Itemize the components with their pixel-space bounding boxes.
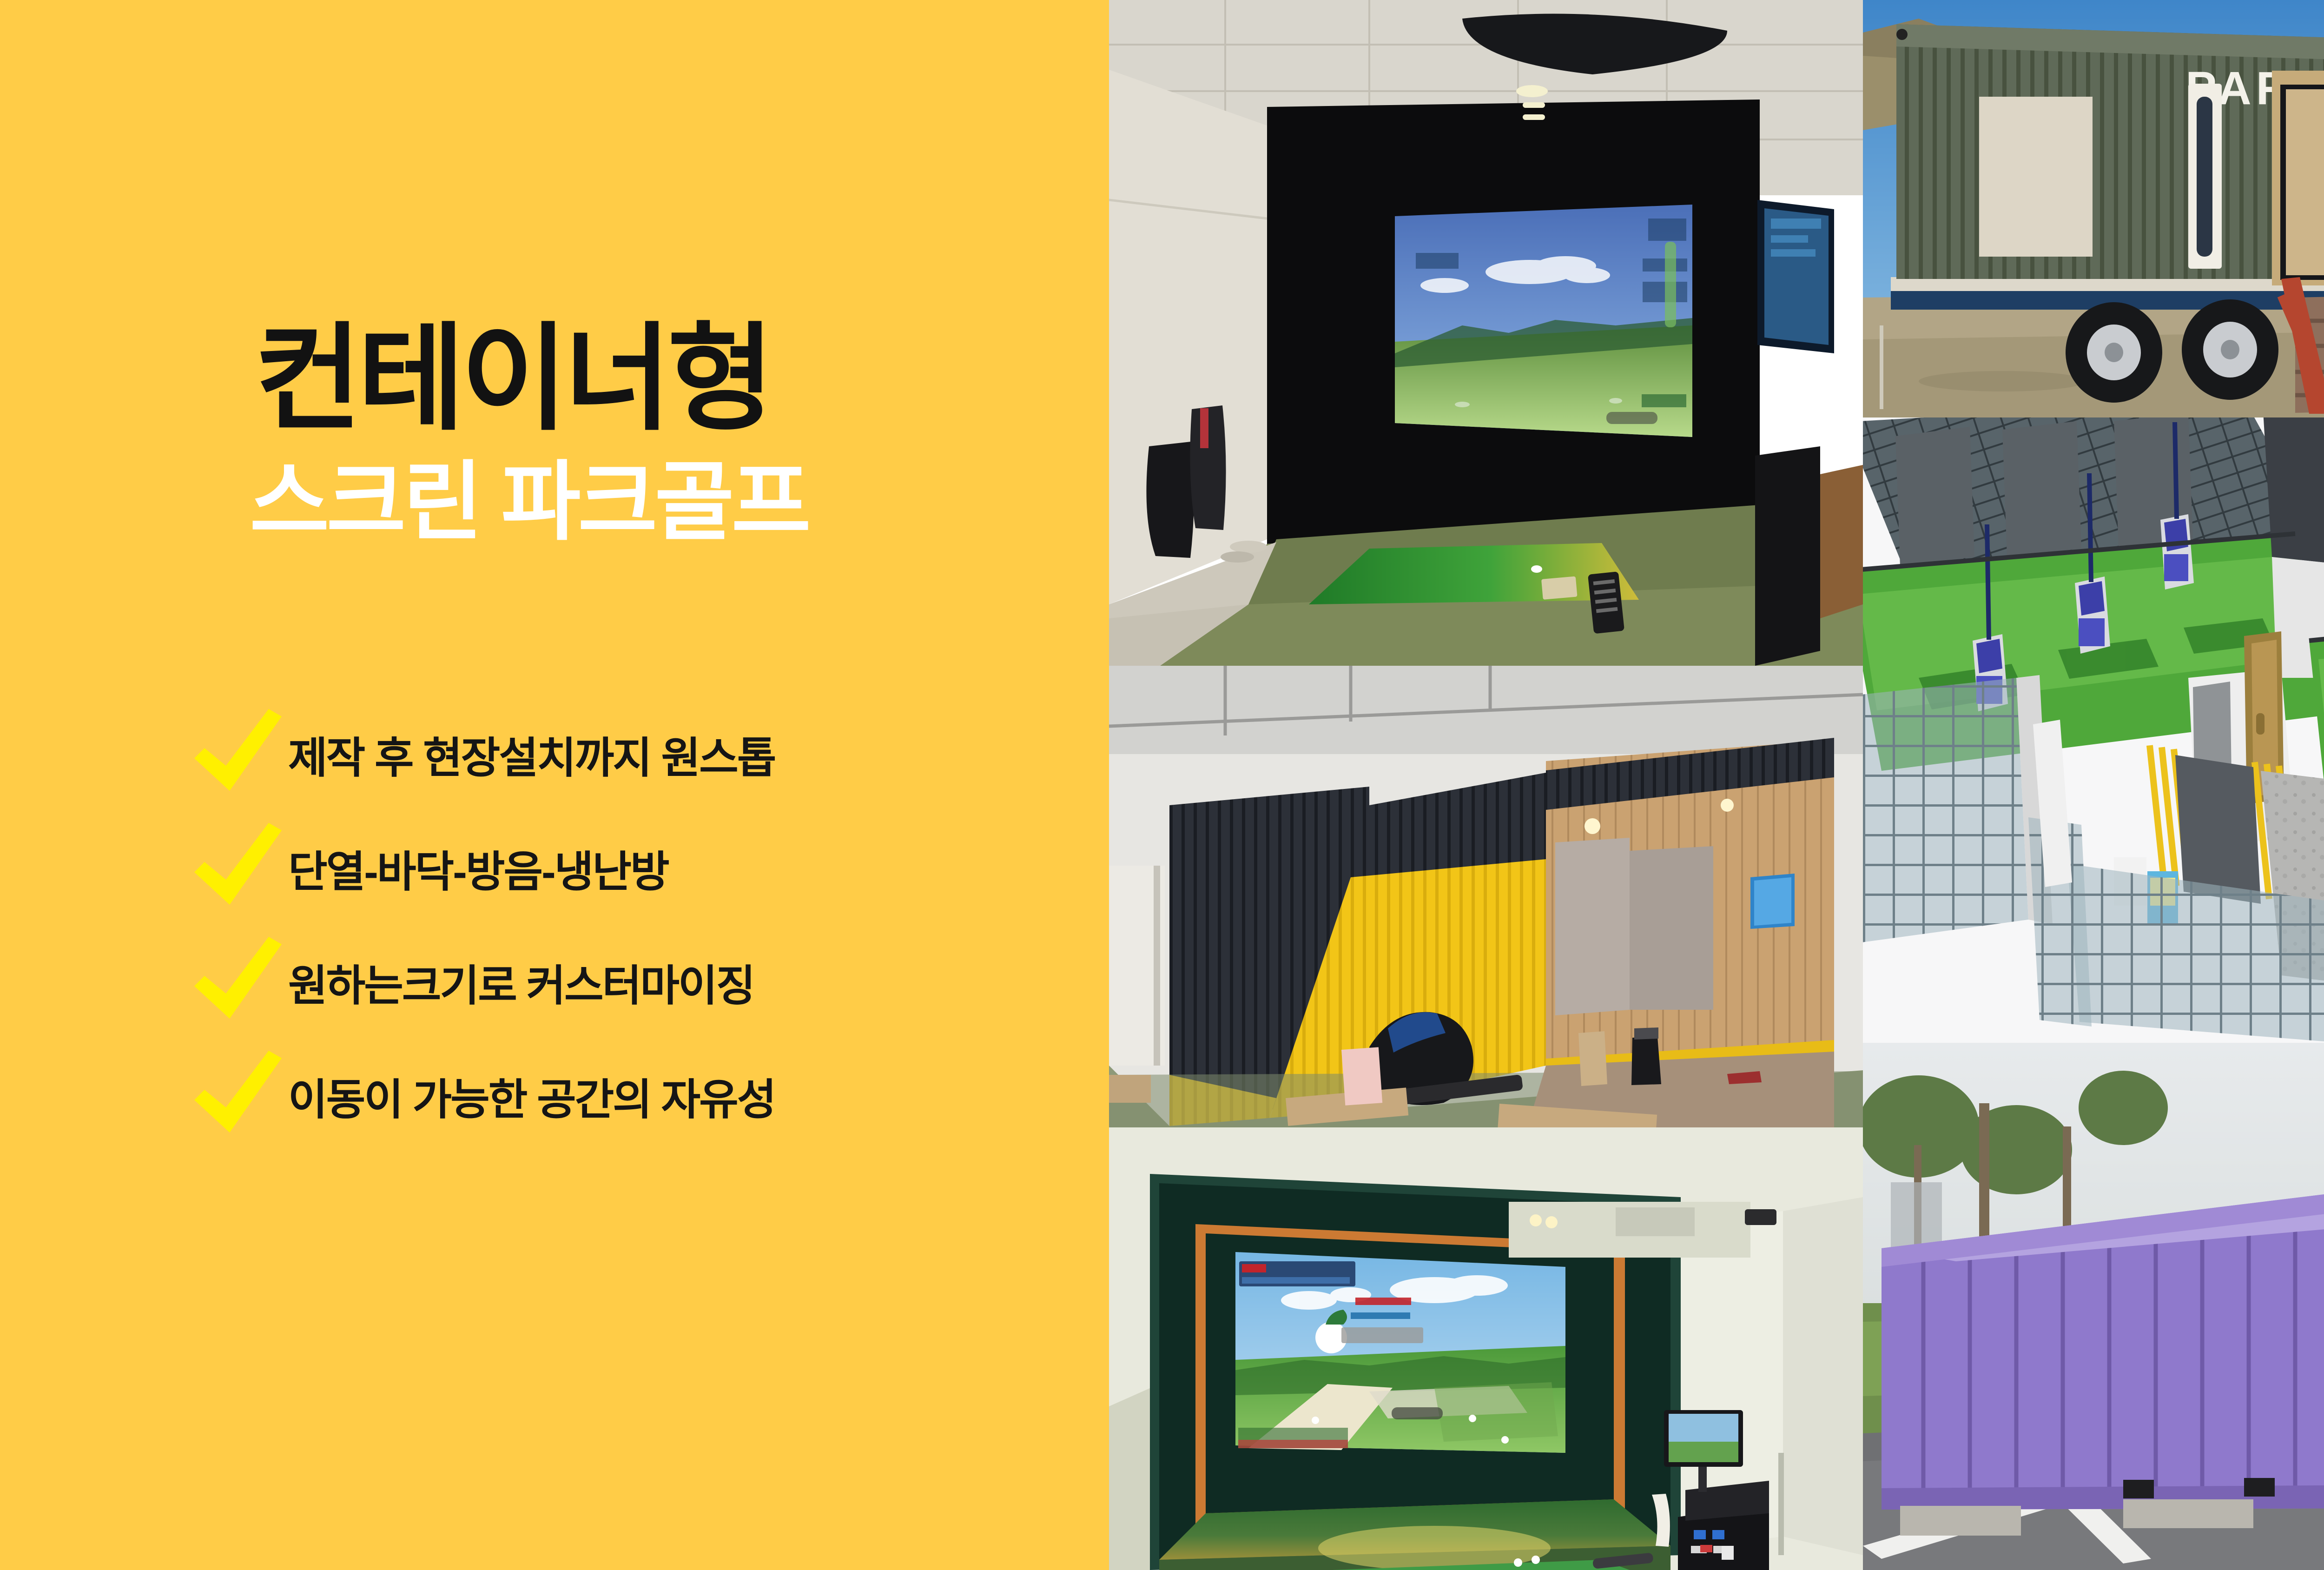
check-icon bbox=[191, 1050, 288, 1143]
park-golf-trailer-photo: PARK GOLF bbox=[1863, 0, 2324, 417]
check-icon bbox=[191, 708, 288, 801]
list-item: 단열-바닥-방음-냉난방 bbox=[191, 811, 1074, 925]
screen-golf-booth-photo bbox=[1109, 1127, 1863, 1570]
feature-label: 단열-바닥-방음-냉난방 bbox=[288, 837, 668, 899]
feature-label: 제작 후 현장설치까지 원스톱 bbox=[288, 723, 775, 785]
check-icon bbox=[191, 936, 288, 1029]
list-item: 원하는크기로 커스터마이징 bbox=[191, 925, 1074, 1039]
headline-block: 컨테이너형 스크린 파크골프 bbox=[0, 321, 1109, 546]
poster-root: 컨테이너형 스크린 파크골프 제작 후 현장설치까지 원스톱 단열-바닥-방 bbox=[0, 0, 2324, 1570]
interior-3d-floorplan-render bbox=[1863, 417, 2324, 1043]
container-fabrication-workshop-photo bbox=[1109, 666, 1863, 1127]
page-subtitle: 스크린 파크골프 bbox=[0, 459, 1109, 546]
list-item: 제작 후 현장설치까지 원스톱 bbox=[191, 697, 1074, 811]
list-item: 이동이 가능한 공간의 자유성 bbox=[191, 1039, 1074, 1153]
gallery-middle-column bbox=[1109, 0, 1863, 1570]
feature-list: 제작 후 현장설치까지 원스톱 단열-바닥-방음-냉난방 원하는크기로 커스터마… bbox=[191, 697, 1074, 1153]
page-title: 컨테이너형 bbox=[0, 321, 1109, 437]
indoor-screen-golf-simulator-photo bbox=[1109, 0, 1863, 666]
check-icon bbox=[191, 822, 288, 915]
gallery-right-column: PARK GOLF bbox=[1863, 0, 2324, 1570]
purple-container-unit-photo bbox=[1863, 1043, 2324, 1570]
left-yellow-panel: 컨테이너형 스크린 파크골프 제작 후 현장설치까지 원스톱 단열-바닥-방 bbox=[0, 0, 1109, 1570]
feature-label: 이동이 가능한 공간의 자유성 bbox=[288, 1065, 775, 1127]
feature-label: 원하는크기로 커스터마이징 bbox=[288, 951, 754, 1013]
